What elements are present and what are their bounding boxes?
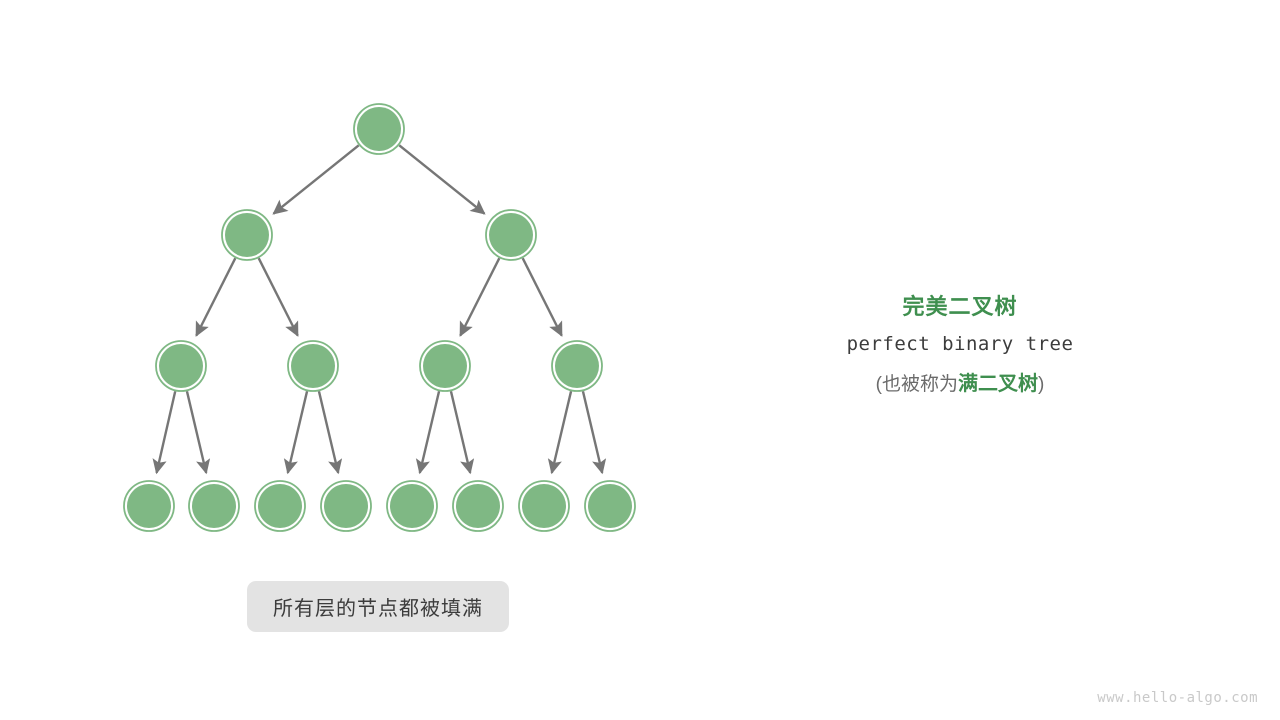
legend-alias: (也被称为满二叉树) bbox=[760, 364, 1160, 405]
tree-edge bbox=[274, 145, 359, 213]
tree-node[interactable] bbox=[222, 210, 272, 260]
tree-node[interactable] bbox=[354, 104, 404, 154]
tree-node-fill bbox=[357, 107, 401, 151]
tree-node-fill bbox=[159, 344, 203, 388]
tree-edge bbox=[460, 258, 499, 335]
tree-edge bbox=[187, 391, 206, 473]
tree-node[interactable] bbox=[552, 341, 602, 391]
tree-node[interactable] bbox=[519, 481, 569, 531]
legend-alias-highlight: 满二叉树 bbox=[958, 373, 1038, 395]
tree-edge bbox=[288, 391, 307, 473]
tree-node-fill bbox=[127, 484, 171, 528]
tree-node-fill bbox=[225, 213, 269, 257]
tree-node-fill bbox=[192, 484, 236, 528]
watermark: www.hello-algo.com bbox=[1097, 690, 1258, 706]
tree-node[interactable] bbox=[288, 341, 338, 391]
tree-edge bbox=[196, 258, 235, 335]
tree-node[interactable] bbox=[321, 481, 371, 531]
legend-subtitle: perfect binary tree bbox=[760, 324, 1160, 364]
legend-block: 完美二叉树 perfect binary tree (也被称为满二叉树) bbox=[760, 290, 1160, 405]
tree-edge bbox=[583, 391, 602, 473]
tree-node-fill bbox=[390, 484, 434, 528]
diagram-canvas: 完美二叉树 perfect binary tree (也被称为满二叉树) 所有层… bbox=[0, 0, 1280, 720]
edge-layer bbox=[157, 145, 603, 473]
tree-node-fill bbox=[555, 344, 599, 388]
tree-edge bbox=[399, 145, 484, 213]
tree-node[interactable] bbox=[486, 210, 536, 260]
tree-edge bbox=[319, 391, 338, 473]
tree-edge bbox=[451, 391, 470, 473]
node-layer bbox=[124, 104, 635, 531]
tree-node[interactable] bbox=[156, 341, 206, 391]
tree-node-fill bbox=[324, 484, 368, 528]
caption-area: 所有层的节点都被填满 bbox=[0, 581, 756, 632]
tree-node-fill bbox=[291, 344, 335, 388]
tree-node-fill bbox=[423, 344, 467, 388]
tree-node-fill bbox=[522, 484, 566, 528]
tree-node[interactable] bbox=[420, 341, 470, 391]
tree-edge bbox=[157, 391, 176, 473]
tree-edge bbox=[259, 258, 298, 335]
tree-node[interactable] bbox=[585, 481, 635, 531]
tree-node[interactable] bbox=[255, 481, 305, 531]
tree-node-fill bbox=[258, 484, 302, 528]
tree-node-fill bbox=[489, 213, 533, 257]
legend-alias-prefix: (也被称为 bbox=[876, 374, 958, 395]
legend-alias-suffix: ) bbox=[1038, 374, 1044, 395]
tree-edge bbox=[523, 258, 562, 335]
caption-pill: 所有层的节点都被填满 bbox=[247, 581, 509, 632]
tree-node-fill bbox=[456, 484, 500, 528]
legend-title: 完美二叉树 bbox=[760, 290, 1160, 324]
tree-node[interactable] bbox=[453, 481, 503, 531]
tree-node[interactable] bbox=[124, 481, 174, 531]
tree-node[interactable] bbox=[189, 481, 239, 531]
tree-edge bbox=[420, 391, 439, 473]
tree-node-fill bbox=[588, 484, 632, 528]
tree-node[interactable] bbox=[387, 481, 437, 531]
tree-edge bbox=[552, 391, 571, 473]
